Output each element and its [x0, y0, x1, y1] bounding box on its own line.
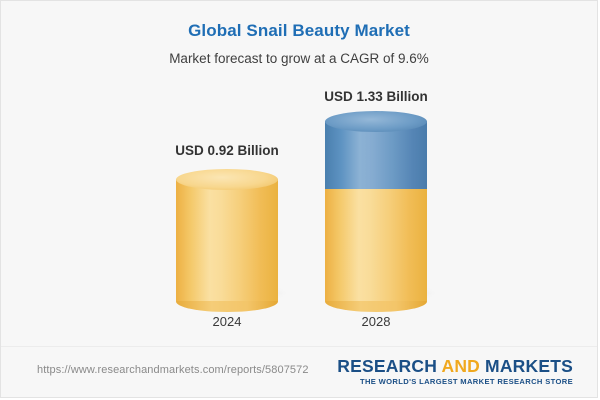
- logo-word-and: AND: [441, 356, 480, 376]
- chart-header: Global Snail Beauty Market Market foreca…: [1, 1, 597, 67]
- research-and-markets-logo[interactable]: RESEARCH AND MARKETS THE WORLD'S LARGEST…: [337, 357, 573, 386]
- cylinder-top-ellipse: [325, 111, 427, 132]
- cylinder-top-ellipse: [176, 169, 278, 190]
- bar-segment-base-2024: [176, 179, 278, 301]
- x-axis-label-2028: 2028: [296, 314, 456, 329]
- bar-segment-growth-2028: [325, 121, 427, 189]
- bar-segment-base-2028: [325, 189, 427, 301]
- cylinder-body: [325, 189, 427, 301]
- report-url-link[interactable]: https://www.researchandmarkets.com/repor…: [37, 364, 309, 376]
- chart-footer: https://www.researchandmarkets.com/repor…: [1, 346, 597, 397]
- bar-cylinder-2024[interactable]: [176, 179, 278, 301]
- logo-word-research: RESEARCH: [337, 356, 441, 376]
- logo-wordmark: RESEARCH AND MARKETS: [337, 357, 573, 376]
- bar-value-label-2024: USD 0.92 Billion: [147, 143, 307, 158]
- page-title: Global Snail Beauty Market: [1, 21, 597, 41]
- bar-cylinder-2028[interactable]: [325, 121, 427, 301]
- chart-subtitle: Market forecast to grow at a CAGR of 9.6…: [1, 50, 597, 67]
- bar-group-2028: USD 1.33 Billion 2028: [296, 81, 456, 341]
- logo-word-markets: MARKETS: [480, 356, 573, 376]
- bar-group-2024: USD 0.92 Billion 2024: [147, 81, 307, 341]
- chart-card: Global Snail Beauty Market Market foreca…: [0, 0, 598, 398]
- x-axis-label-2024: 2024: [147, 314, 307, 329]
- bar-value-label-2028: USD 1.33 Billion: [296, 89, 456, 104]
- logo-tagline: THE WORLD'S LARGEST MARKET RESEARCH STOR…: [337, 377, 573, 386]
- chart-plot-area: USD 0.92 Billion 2024 USD 1.33 Billion: [1, 81, 597, 341]
- cylinder-body: [176, 179, 278, 301]
